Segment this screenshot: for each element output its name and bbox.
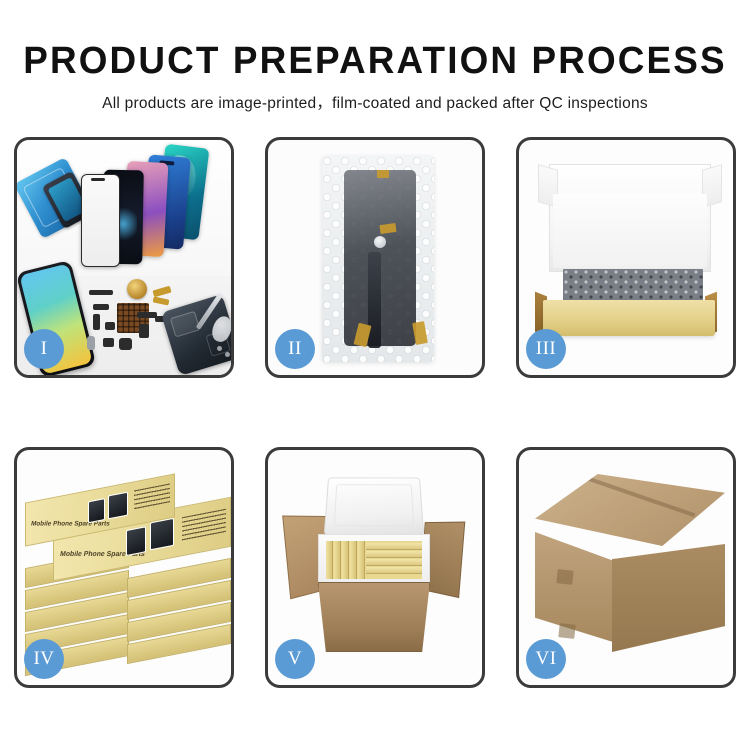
speaker-coil-part-icon	[127, 279, 147, 299]
bubble-wrap-bag-icon	[322, 156, 434, 362]
camera-part-icon	[103, 338, 114, 347]
antenna-flex-part-icon	[137, 312, 157, 318]
yellow-box-h1	[366, 543, 422, 550]
box-spec-text-block-upper	[134, 483, 170, 510]
yellow-box-h4	[366, 567, 422, 574]
box-spec-text-block-front	[182, 509, 226, 542]
carton-tape-patch-1-icon	[556, 569, 573, 585]
screw-part-icon	[217, 346, 222, 351]
flex-cable-icon	[368, 252, 381, 348]
bracket-part-icon	[93, 304, 109, 310]
process-step-grid: I II	[14, 137, 737, 688]
page-title: PRODUCT PREPARATION PROCESS	[11, 42, 739, 82]
tape-piece-4-icon	[412, 321, 428, 345]
yellow-box-v1	[326, 541, 333, 579]
step-badge-3: III	[526, 329, 566, 369]
page-subtitle: All products are image-printed，film-coat…	[0, 91, 750, 113]
retail-box-label-upper: Mobile Phone Spare Parts	[30, 520, 110, 527]
phone-screen-1-icon	[81, 174, 120, 267]
carton-top-panel-icon	[535, 474, 725, 546]
box-art-screen-2	[150, 518, 174, 551]
carton-tape-patch-2-icon	[558, 623, 575, 639]
process-step-card-1: I	[14, 137, 234, 378]
process-step-card-6: VI	[516, 447, 736, 688]
foam-liner-icon	[553, 194, 707, 268]
grey-foam-pad-icon	[563, 269, 703, 302]
step-badge-4: IV	[24, 639, 64, 679]
product-preparation-infographic: PRODUCT PREPARATION PROCESS All products…	[0, 0, 750, 750]
vertical-part-icon	[93, 314, 100, 330]
header: PRODUCT PREPARATION PROCESS All products…	[0, 0, 750, 113]
process-step-card-2: II	[265, 137, 485, 378]
box-art-screen-1	[126, 526, 146, 556]
packed-yellow-boxes-group	[326, 541, 422, 579]
taptic-part-icon	[119, 338, 132, 350]
screw-part-2-icon	[225, 352, 230, 357]
tape-piece-1-icon	[377, 170, 389, 178]
box-art-screen-3	[88, 498, 105, 523]
carton-right-panel-icon	[612, 544, 725, 652]
process-step-card-5: V	[265, 447, 485, 688]
yellow-box-h3	[366, 559, 422, 566]
step-badge-1: I	[24, 329, 64, 369]
carton-front-panel-icon	[318, 582, 430, 652]
sim-tray-part-icon	[87, 336, 95, 350]
step-badge-2: II	[275, 329, 315, 369]
small-part-strip-icon	[89, 290, 113, 295]
yellow-box-v5	[358, 541, 365, 579]
yellow-box-v2	[334, 541, 341, 579]
process-step-card-4: Mobile Phone Spare Parts Mobile Phone Sp…	[14, 447, 234, 688]
button-part-icon	[105, 322, 115, 330]
camera-lens-icon	[374, 236, 386, 248]
foam-box-lid-icon	[324, 477, 424, 535]
process-step-card-3: III	[516, 137, 736, 378]
yellow-box-h2	[366, 551, 422, 558]
yellow-box-v3	[342, 541, 349, 579]
yellow-box-v4	[350, 541, 357, 579]
box-art-screen-4	[108, 492, 128, 520]
step-badge-5: V	[275, 639, 315, 679]
kraft-box-front-icon	[543, 300, 715, 336]
step-badge-6: VI	[526, 639, 566, 679]
vibrator-part-icon	[139, 324, 149, 338]
